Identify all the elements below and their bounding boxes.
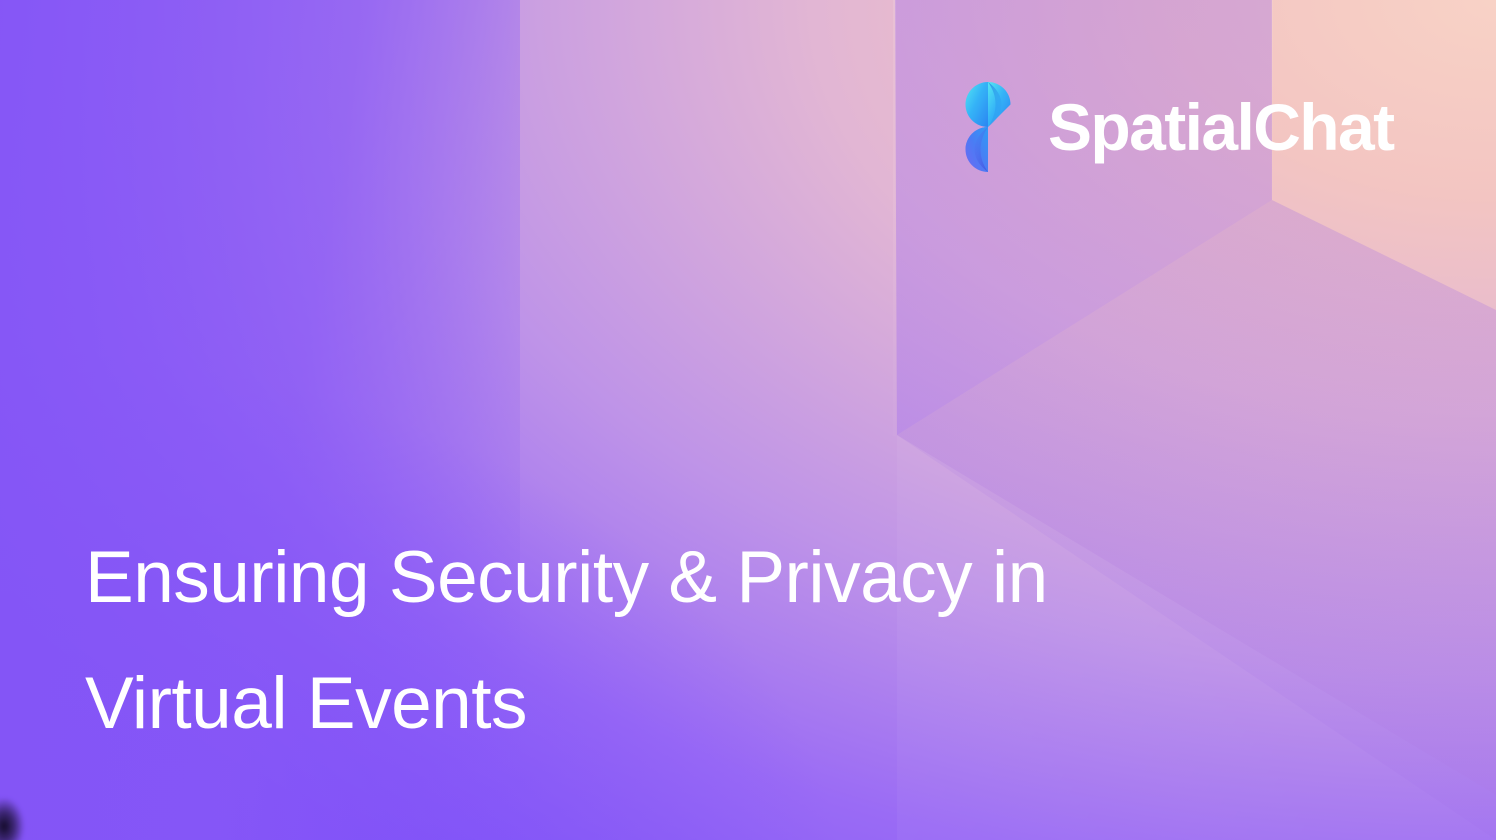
brand-lockup: SpatialChat: [962, 82, 1393, 172]
presentation-slide: SpatialChat Ensuring Security & Privacy …: [0, 0, 1496, 840]
brand-wordmark: SpatialChat: [1048, 94, 1393, 160]
title-block: Ensuring Security & Privacy in Virtual E…: [85, 515, 1405, 766]
slide-title: Ensuring Security & Privacy in Virtual E…: [85, 515, 1405, 766]
corner-artifact: [0, 794, 40, 840]
spatialchat-s-logo-icon: [962, 82, 1014, 172]
background-vertical-seam: [893, 0, 896, 436]
